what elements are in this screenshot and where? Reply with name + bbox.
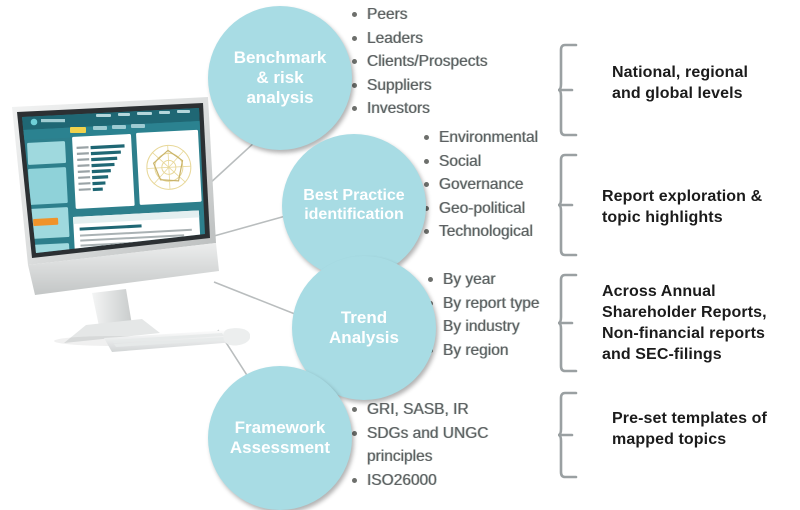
bullet-list-framework: GRI, SASB, IR SDGs and UNGC principles I… xyxy=(352,398,502,492)
list-item: Social xyxy=(424,150,538,174)
bracket-1 xyxy=(558,42,588,140)
list-item: By industry xyxy=(428,315,540,339)
bullet-list-trend: By year By report type By industry By re… xyxy=(428,268,540,362)
bracket-2 xyxy=(558,152,588,260)
list-item: SDGs and UNGC principles xyxy=(352,422,502,469)
caption-national-regional-global: National, regional and global levels xyxy=(612,62,748,104)
bracket-3 xyxy=(558,272,588,376)
list-item: Clients/Prospects xyxy=(352,50,488,74)
node-label: Best Practice identification xyxy=(295,187,412,224)
caption-preset-templates: Pre-set templates of mapped topics xyxy=(612,408,767,450)
caption-report-exploration: Report exploration & topic highlights xyxy=(602,186,762,228)
list-item: Leaders xyxy=(352,27,488,51)
list-item: Governance xyxy=(424,173,538,197)
list-item: Investors xyxy=(352,97,488,121)
list-item: Suppliers xyxy=(352,74,488,98)
list-item: By year xyxy=(428,268,540,292)
list-item: Environmental xyxy=(424,126,538,150)
node-label: Framework Assessment xyxy=(222,418,338,457)
list-item: ISO26000 xyxy=(352,469,502,493)
list-item: Geo-political xyxy=(424,197,538,221)
list-item: By report type xyxy=(428,292,540,316)
list-item: Peers xyxy=(352,3,488,27)
list-item: GRI, SASB, IR xyxy=(352,398,502,422)
bracket-4 xyxy=(558,390,588,482)
diagram-canvas: Benchmark & risk analysis Best Practice … xyxy=(0,0,800,507)
list-item: Technological xyxy=(424,220,538,244)
workstation-illustration xyxy=(0,95,250,360)
caption-report-sources: Across Annual Shareholder Reports, Non-f… xyxy=(602,281,767,365)
list-item: By region xyxy=(428,339,540,363)
bullet-list-benchmark: Peers Leaders Clients/Prospects Supplier… xyxy=(352,3,488,121)
node-framework-assessment[interactable]: Framework Assessment xyxy=(208,366,352,510)
node-label: Trend Analysis xyxy=(321,308,407,347)
bullet-list-best-practice: Environmental Social Governance Geo-poli… xyxy=(424,126,538,244)
